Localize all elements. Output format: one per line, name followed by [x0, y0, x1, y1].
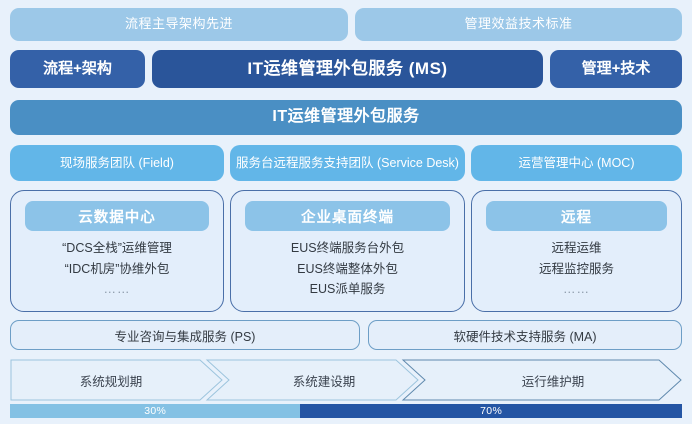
service-item: EUS派单服务 [310, 282, 386, 298]
progress-segment-left[interactable]: 30% [10, 404, 300, 418]
headline-card-right-label: 管理+技术 [582, 60, 651, 77]
progress-split-bar: 30% 70% [10, 404, 682, 418]
main-service-banner[interactable]: IT运维管理外包服务 [10, 100, 682, 135]
team-card-field[interactable]: 现场服务团队 (Field) [10, 145, 224, 181]
service-item: “IDC机房”协维外包 [65, 262, 170, 278]
diagram-canvas: 流程主导架构先进 管理效益技术标准 流程+架构 IT运维管理外包服务 (MS) … [0, 0, 692, 424]
service-item: 远程监控服务 [539, 262, 614, 278]
service-item: EUS终端整体外包 [297, 262, 398, 278]
phase-label-2: 系统建设期 [229, 358, 419, 402]
main-service-banner-label: IT运维管理外包服务 [272, 108, 419, 126]
service-group-enterprise-desktop-title: 企业桌面终端 [245, 201, 450, 231]
team-card-moc-label: 运营管理中心 (MOC) [519, 156, 635, 170]
service-item-ellipsis: …… [563, 282, 590, 298]
phase-label-1: 系统规划期 [11, 358, 211, 402]
headline-card-center[interactable]: IT运维管理外包服务 (MS) [152, 50, 543, 88]
service-group-remote[interactable]: 远程 远程运维 远程监控服务 …… [471, 190, 682, 312]
progress-segment-right-label: 70% [480, 405, 502, 417]
headline-card-left-label: 流程+架构 [43, 60, 112, 77]
service-group-cloud-data-center-list: “DCS全栈”运维管理 “IDC机房”协维外包 …… [17, 237, 217, 305]
value-card-1-label: 流程主导架构先进 [125, 17, 233, 32]
service-group-enterprise-desktop-list: EUS终端服务台外包 EUS终端整体外包 EUS派单服务 [237, 237, 458, 305]
service-group-cloud-data-center[interactable]: 云数据中心 “DCS全栈”运维管理 “IDC机房”协维外包 …… [10, 190, 224, 312]
value-card-1[interactable]: 流程主导架构先进 [10, 8, 348, 41]
service-item: EUS终端服务台外包 [291, 241, 404, 257]
support-bar-ma[interactable]: 软硬件技术支持服务 (MA) [368, 320, 682, 350]
progress-segment-right[interactable]: 70% [300, 404, 682, 418]
headline-card-right[interactable]: 管理+技术 [550, 50, 682, 88]
team-card-service-desk[interactable]: 服务台远程服务支持团队 (Service Desk) [230, 145, 465, 181]
headline-card-left[interactable]: 流程+架构 [10, 50, 145, 88]
service-item: 远程运维 [551, 241, 601, 257]
service-group-enterprise-desktop[interactable]: 企业桌面终端 EUS终端服务台外包 EUS终端整体外包 EUS派单服务 [230, 190, 465, 312]
team-card-service-desk-label: 服务台远程服务支持团队 (Service Desk) [236, 156, 459, 170]
value-card-2-label: 管理效益技术标准 [464, 17, 572, 32]
team-card-field-label: 现场服务团队 (Field) [60, 156, 174, 170]
service-group-cloud-data-center-title: 云数据中心 [25, 201, 209, 231]
support-bar-ps-label: 专业咨询与集成服务 (PS) [115, 326, 256, 345]
support-bar-ma-label: 软硬件技术支持服务 (MA) [453, 326, 596, 345]
service-item-ellipsis: …… [104, 282, 131, 298]
support-bar-ps[interactable]: 专业咨询与集成服务 (PS) [10, 320, 360, 350]
service-group-remote-list: 远程运维 远程监控服务 …… [478, 237, 675, 305]
value-card-2[interactable]: 管理效益技术标准 [355, 8, 682, 41]
phase-label-3: 运行维护期 [425, 358, 681, 402]
service-group-remote-title: 远程 [486, 201, 667, 231]
headline-card-center-label: IT运维管理外包服务 (MS) [247, 59, 447, 79]
service-item: “DCS全栈”运维管理 [62, 241, 172, 257]
progress-segment-left-label: 30% [144, 405, 166, 417]
team-card-moc[interactable]: 运营管理中心 (MOC) [471, 145, 682, 181]
